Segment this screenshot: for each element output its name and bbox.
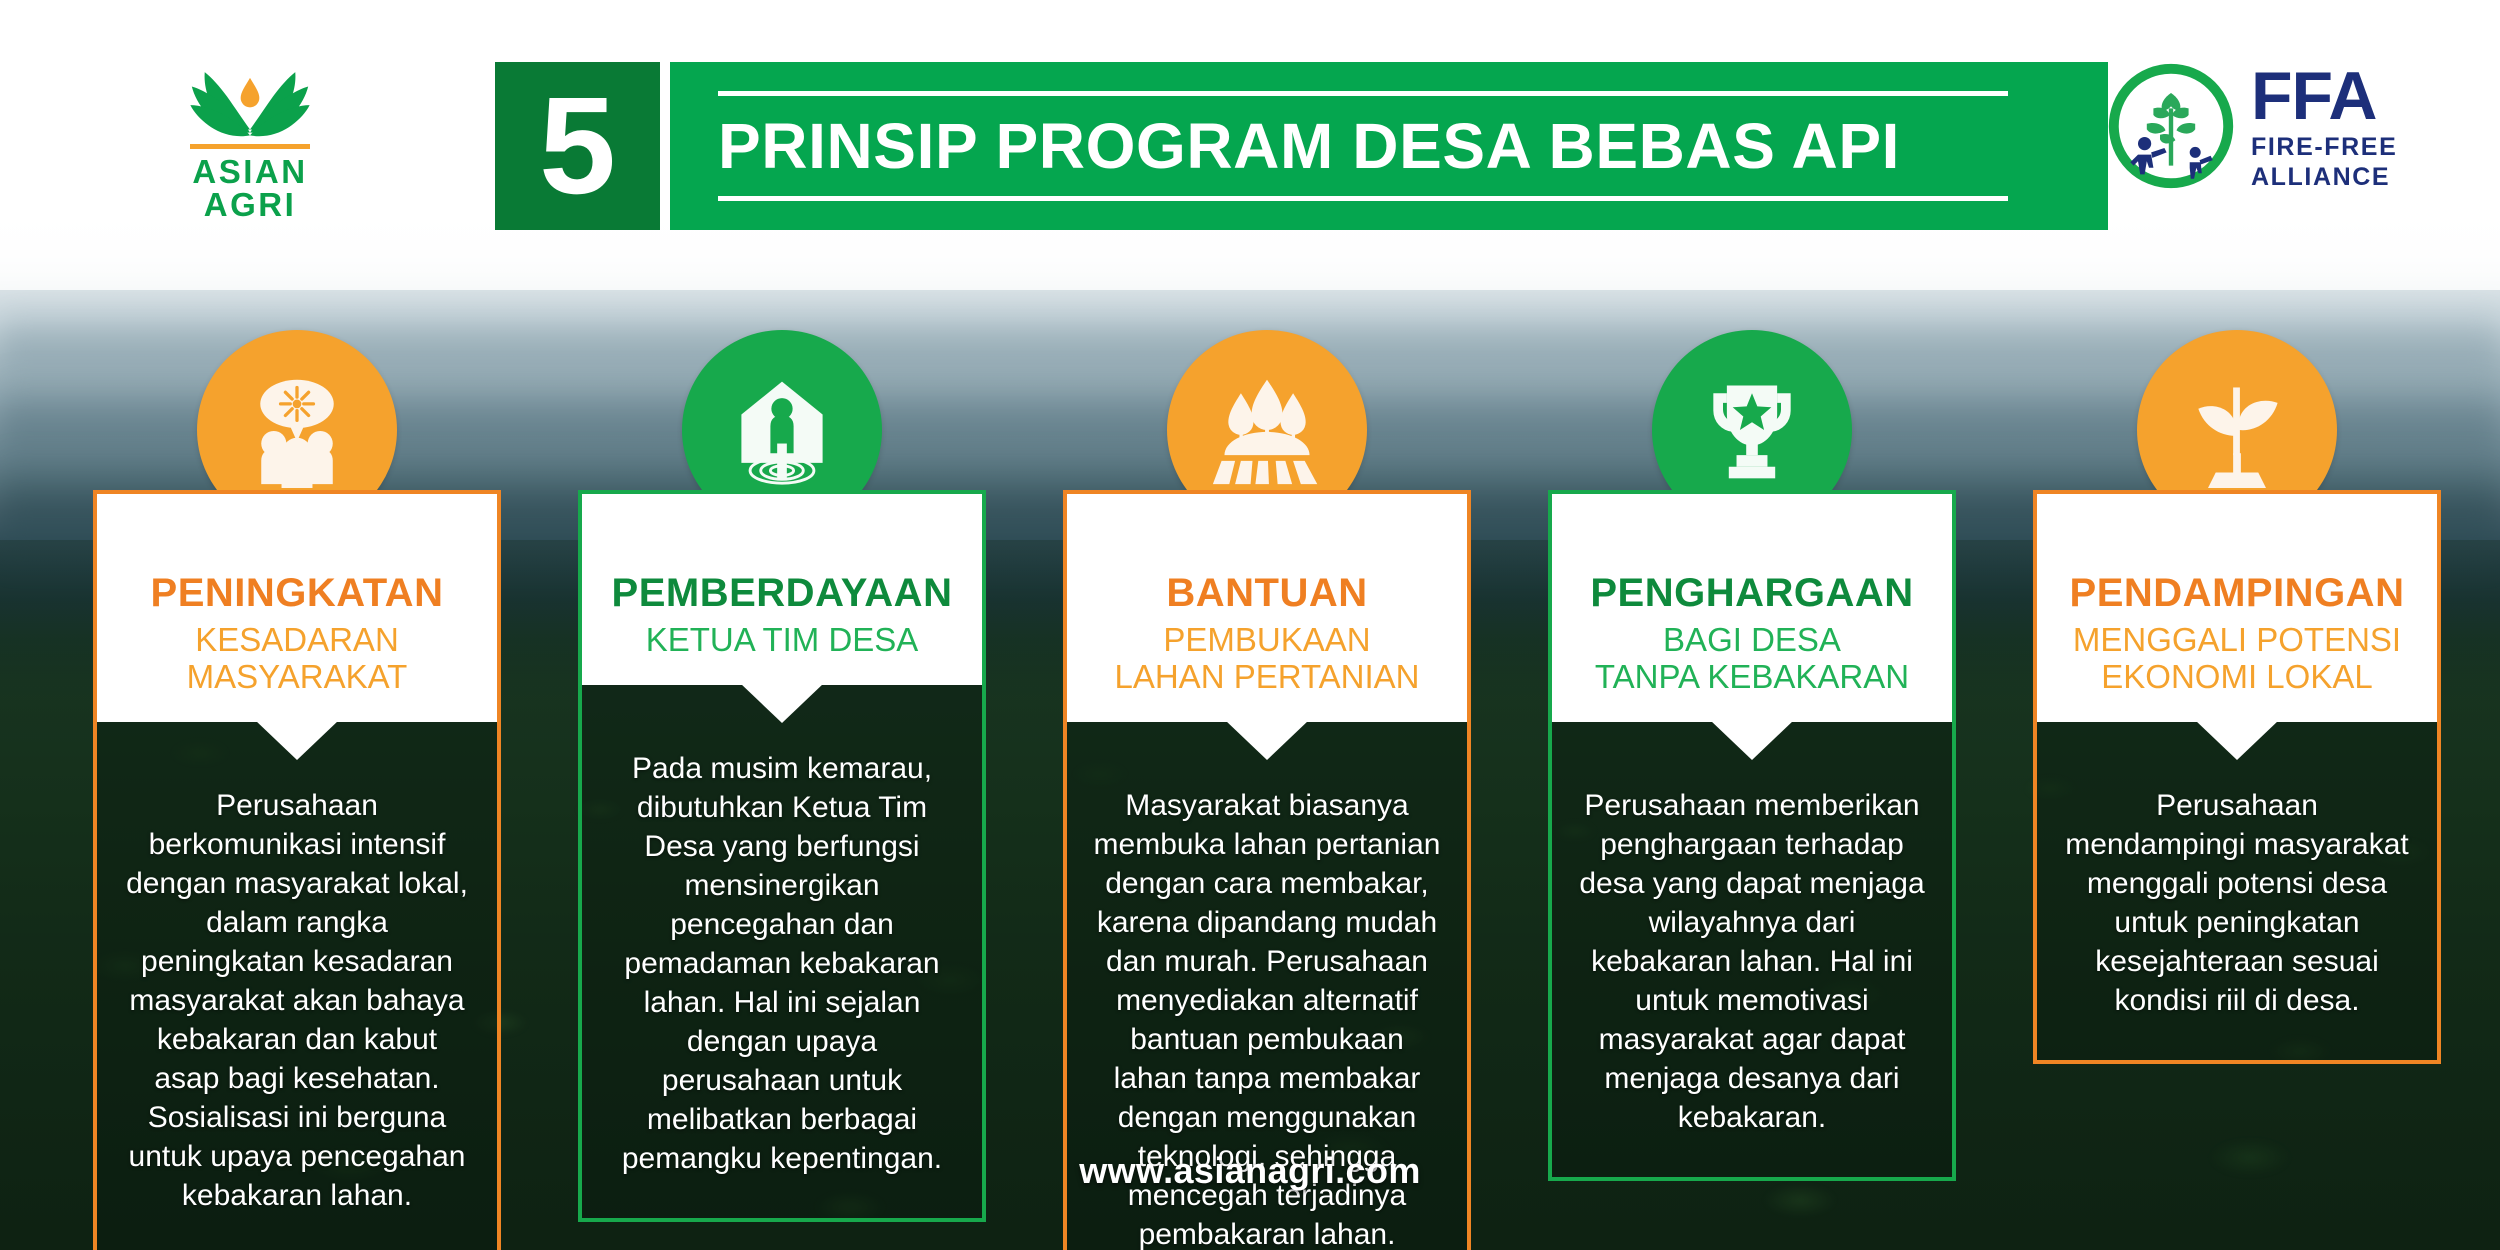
card-5-pointer [2195,720,2279,760]
card-1-head: PENINGKATAN KESADARANMASYARAKAT [93,490,501,722]
card-4-pointer [1710,720,1794,760]
principle-card-1[interactable]: PENINGKATAN KESADARANMASYARAKAT Perusaha… [93,490,501,1250]
card-3-subtitle: PEMBUKAANLAHAN PERTANIAN [1085,622,1449,696]
infographic-page: ASIAN AGRI 5 PRINSIP PROGRAM DESA BEBAS … [0,0,2500,1250]
card-3-head: BANTUAN PEMBUKAANLAHAN PERTANIAN [1063,490,1471,722]
card-4-title: PENGHARGAAN [1570,572,1934,614]
card-2-pointer [740,683,824,723]
card-1-subtitle: KESADARANMASYARAKAT [115,622,479,696]
card-3-title: BANTUAN [1085,572,1449,614]
principle-card-3[interactable]: BANTUAN PEMBUKAANLAHAN PERTANIAN Masyara… [1063,490,1471,1250]
card-4-body: Perusahaan memberikan penghargaan terhad… [1548,722,1956,1181]
card-2-subtitle: KETUA TIM DESA [600,622,964,659]
card-1-title: PENINGKATAN [115,572,479,614]
card-5-body: Perusahaan mendampingi masyarakat mengga… [2033,722,2441,1064]
card-4-text: Perusahaan memberikan penghargaan terhad… [1578,786,1926,1137]
principle-card-5[interactable]: PENDAMPINGAN MENGGALI POTENSIEKONOMI LOK… [2033,490,2441,1064]
card-2-body: Pada musim kemarau, dibutuhkan Ketua Tim… [578,685,986,1222]
card-2-text: Pada musim kemarau, dibutuhkan Ketua Tim… [608,749,956,1178]
card-3-pointer [1225,720,1309,760]
principle-card-2[interactable]: PEMBERDAYAAN KETUA TIM DESA Pada musim k… [578,490,986,1222]
principle-card-4[interactable]: PENGHARGAAN BAGI DESATANPA KEBAKARAN Per… [1548,490,1956,1181]
card-4-subtitle: BAGI DESATANPA KEBAKARAN [1570,622,1934,696]
card-1-pointer [255,720,339,760]
card-5-text: Perusahaan mendampingi masyarakat mengga… [2063,786,2411,1020]
card-2-head: PEMBERDAYAAN KETUA TIM DESA [578,490,986,685]
principles-row: PENINGKATAN KESADARANMASYARAKAT Perusaha… [0,0,2500,1250]
card-4-head: PENGHARGAAN BAGI DESATANPA KEBAKARAN [1548,490,1956,722]
footer-website[interactable]: www.asianagri.com [0,1150,2500,1192]
card-5-title: PENDAMPINGAN [2055,572,2419,614]
card-5-head: PENDAMPINGAN MENGGALI POTENSIEKONOMI LOK… [2033,490,2441,722]
website-url: www.asianagri.com [1079,1150,1421,1191]
card-2-title: PEMBERDAYAAN [600,572,964,614]
card-5-subtitle: MENGGALI POTENSIEKONOMI LOKAL [2055,622,2419,696]
